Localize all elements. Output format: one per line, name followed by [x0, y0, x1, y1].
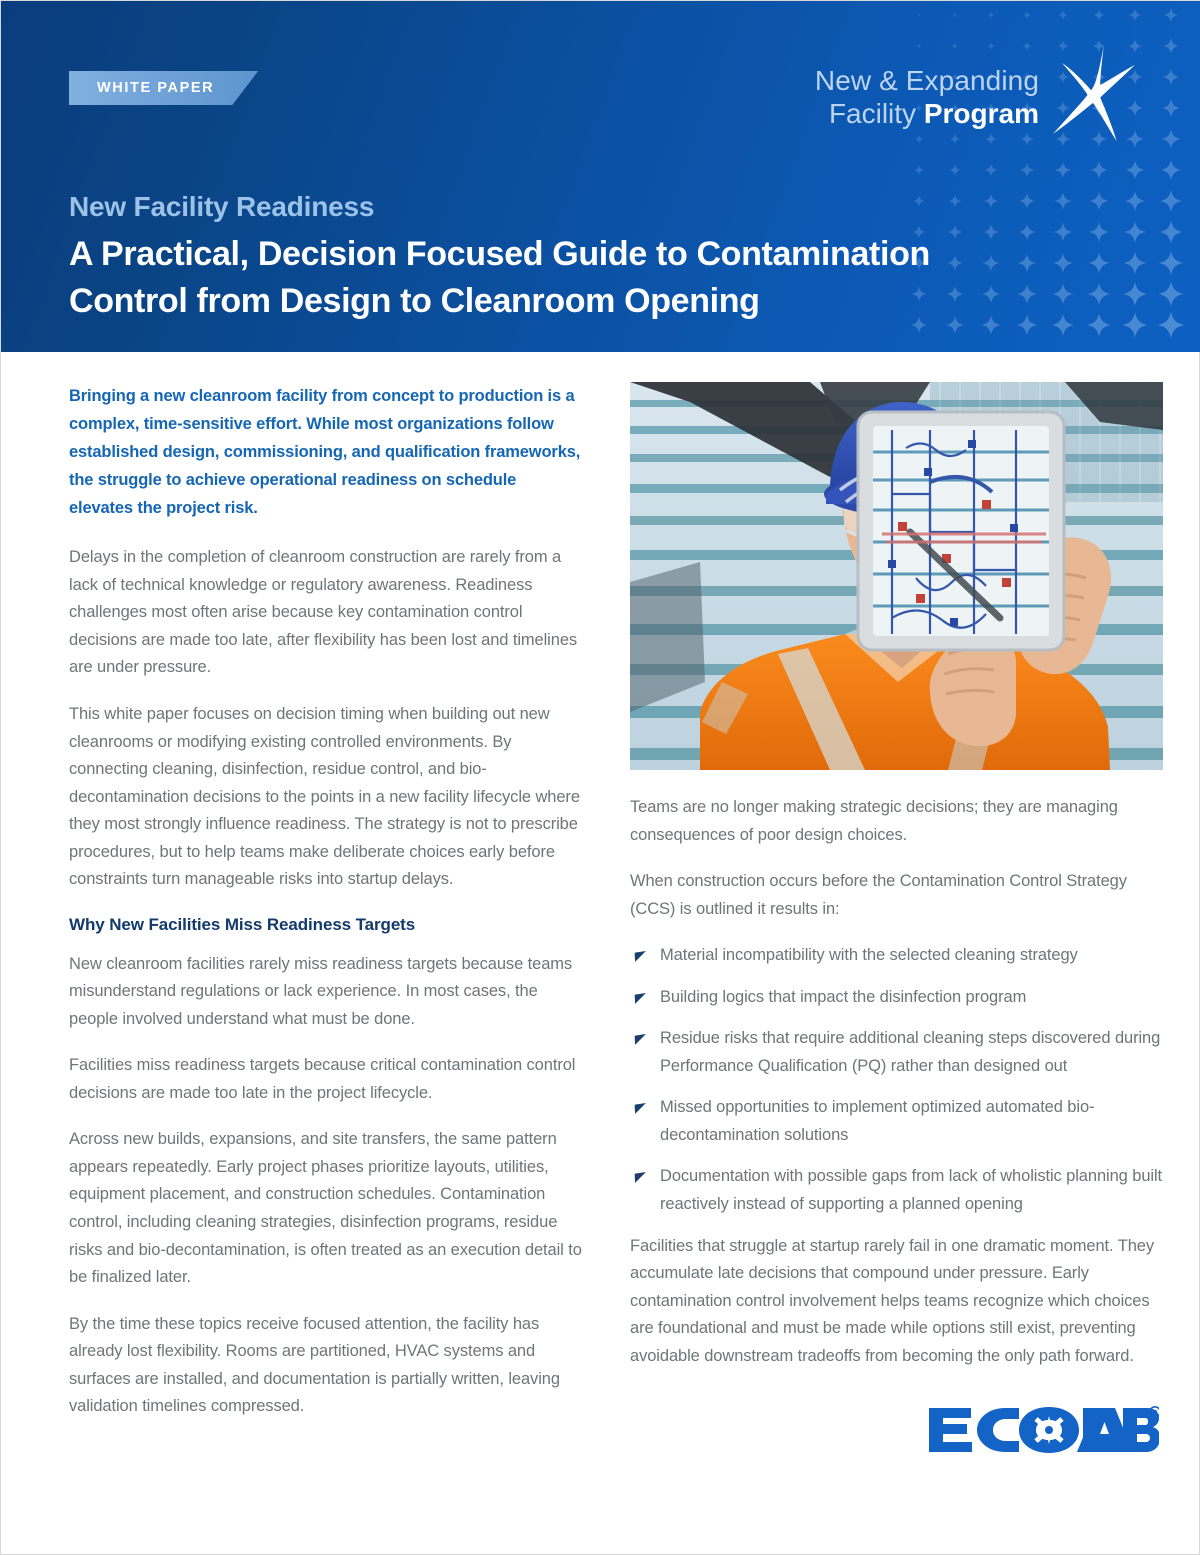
list-item-label: Building logics that impact the disinfec…: [660, 988, 1026, 1006]
footer-spacer: [630, 1456, 1163, 1480]
list-item: Material incompatibility with the select…: [630, 942, 1163, 970]
body-paragraph: Delays in the completion of cleanroom co…: [69, 544, 582, 682]
body-paragraph: Facilities miss readiness targets becaus…: [69, 1052, 582, 1107]
page-title-line2: Control from Design to Cleanroom Opening: [69, 278, 1029, 325]
svg-text:R: R: [1152, 1410, 1157, 1417]
list-item-label: Residue risks that require additional cl…: [660, 1029, 1160, 1075]
header-title-block: New Facility Readiness A Practical, Deci…: [69, 191, 1029, 325]
program-logo: New & Expanding Facility Program: [815, 51, 1139, 143]
list-item-label: Material incompatibility with the select…: [660, 946, 1078, 964]
arrow-bullet-icon: [634, 1034, 647, 1047]
ecolab-wordmark: R: [927, 1404, 1159, 1456]
left-column: Bringing a new cleanroom facility from c…: [69, 382, 582, 1480]
arrow-bullet-icon: [634, 993, 647, 1006]
section-heading: Why New Facilities Miss Readiness Target…: [69, 913, 582, 937]
white-paper-badge-label: WHITE PAPER: [97, 80, 214, 96]
ccs-results-list: Material incompatibility with the select…: [630, 942, 1163, 1218]
arrow-bullet-icon: [634, 1172, 647, 1185]
body-paragraph: When construction occurs before the Cont…: [630, 868, 1163, 923]
ecolab-logo: R: [630, 1404, 1163, 1456]
white-paper-badge: WHITE PAPER: [69, 71, 258, 105]
arrow-bullet-icon: [634, 1103, 647, 1116]
intro-lede: Bringing a new cleanroom facility from c…: [69, 382, 582, 522]
body-paragraph: New cleanroom facilities rarely miss rea…: [69, 951, 582, 1034]
right-column: Teams are no longer making strategic dec…: [630, 382, 1163, 1480]
list-item-label: Missed opportunities to implement optimi…: [660, 1098, 1094, 1144]
body-paragraph: This white paper focuses on decision tim…: [69, 701, 582, 894]
list-item: Documentation with possible gaps from la…: [630, 1163, 1163, 1218]
page-content: Bringing a new cleanroom facility from c…: [1, 352, 1199, 1480]
page-title-line1: A Practical, Decision Focused Guide to C…: [69, 231, 1029, 278]
list-item: Building logics that impact the disinfec…: [630, 984, 1163, 1012]
worker-with-tablet-image: [630, 382, 1163, 770]
white-paper-page: WHITE PAPER New & Expanding Facility Pro…: [0, 0, 1200, 1555]
program-logo-facility: Facility: [829, 98, 924, 129]
list-item: Missed opportunities to implement optimi…: [630, 1094, 1163, 1149]
page-kicker: New Facility Readiness: [69, 191, 1029, 223]
body-paragraph: By the time these topics receive focused…: [69, 1311, 582, 1421]
list-item: Residue risks that require additional cl…: [630, 1025, 1163, 1080]
body-paragraph: Teams are no longer making strategic dec…: [630, 794, 1163, 849]
page-header: WHITE PAPER New & Expanding Facility Pro…: [1, 1, 1200, 352]
program-logo-line2: Facility Program: [815, 97, 1039, 130]
page-title: A Practical, Decision Focused Guide to C…: [69, 231, 1029, 325]
program-logo-program: Program: [924, 98, 1039, 129]
body-paragraph: Across new builds, expansions, and site …: [69, 1126, 582, 1291]
four-point-star-icon: [1047, 43, 1139, 143]
list-item-label: Documentation with possible gaps from la…: [660, 1167, 1162, 1213]
hero-photo: [630, 382, 1163, 770]
body-paragraph: Facilities that struggle at startup rare…: [630, 1233, 1163, 1371]
program-logo-line1: New & Expanding: [815, 64, 1039, 97]
arrow-bullet-icon: [634, 951, 647, 964]
